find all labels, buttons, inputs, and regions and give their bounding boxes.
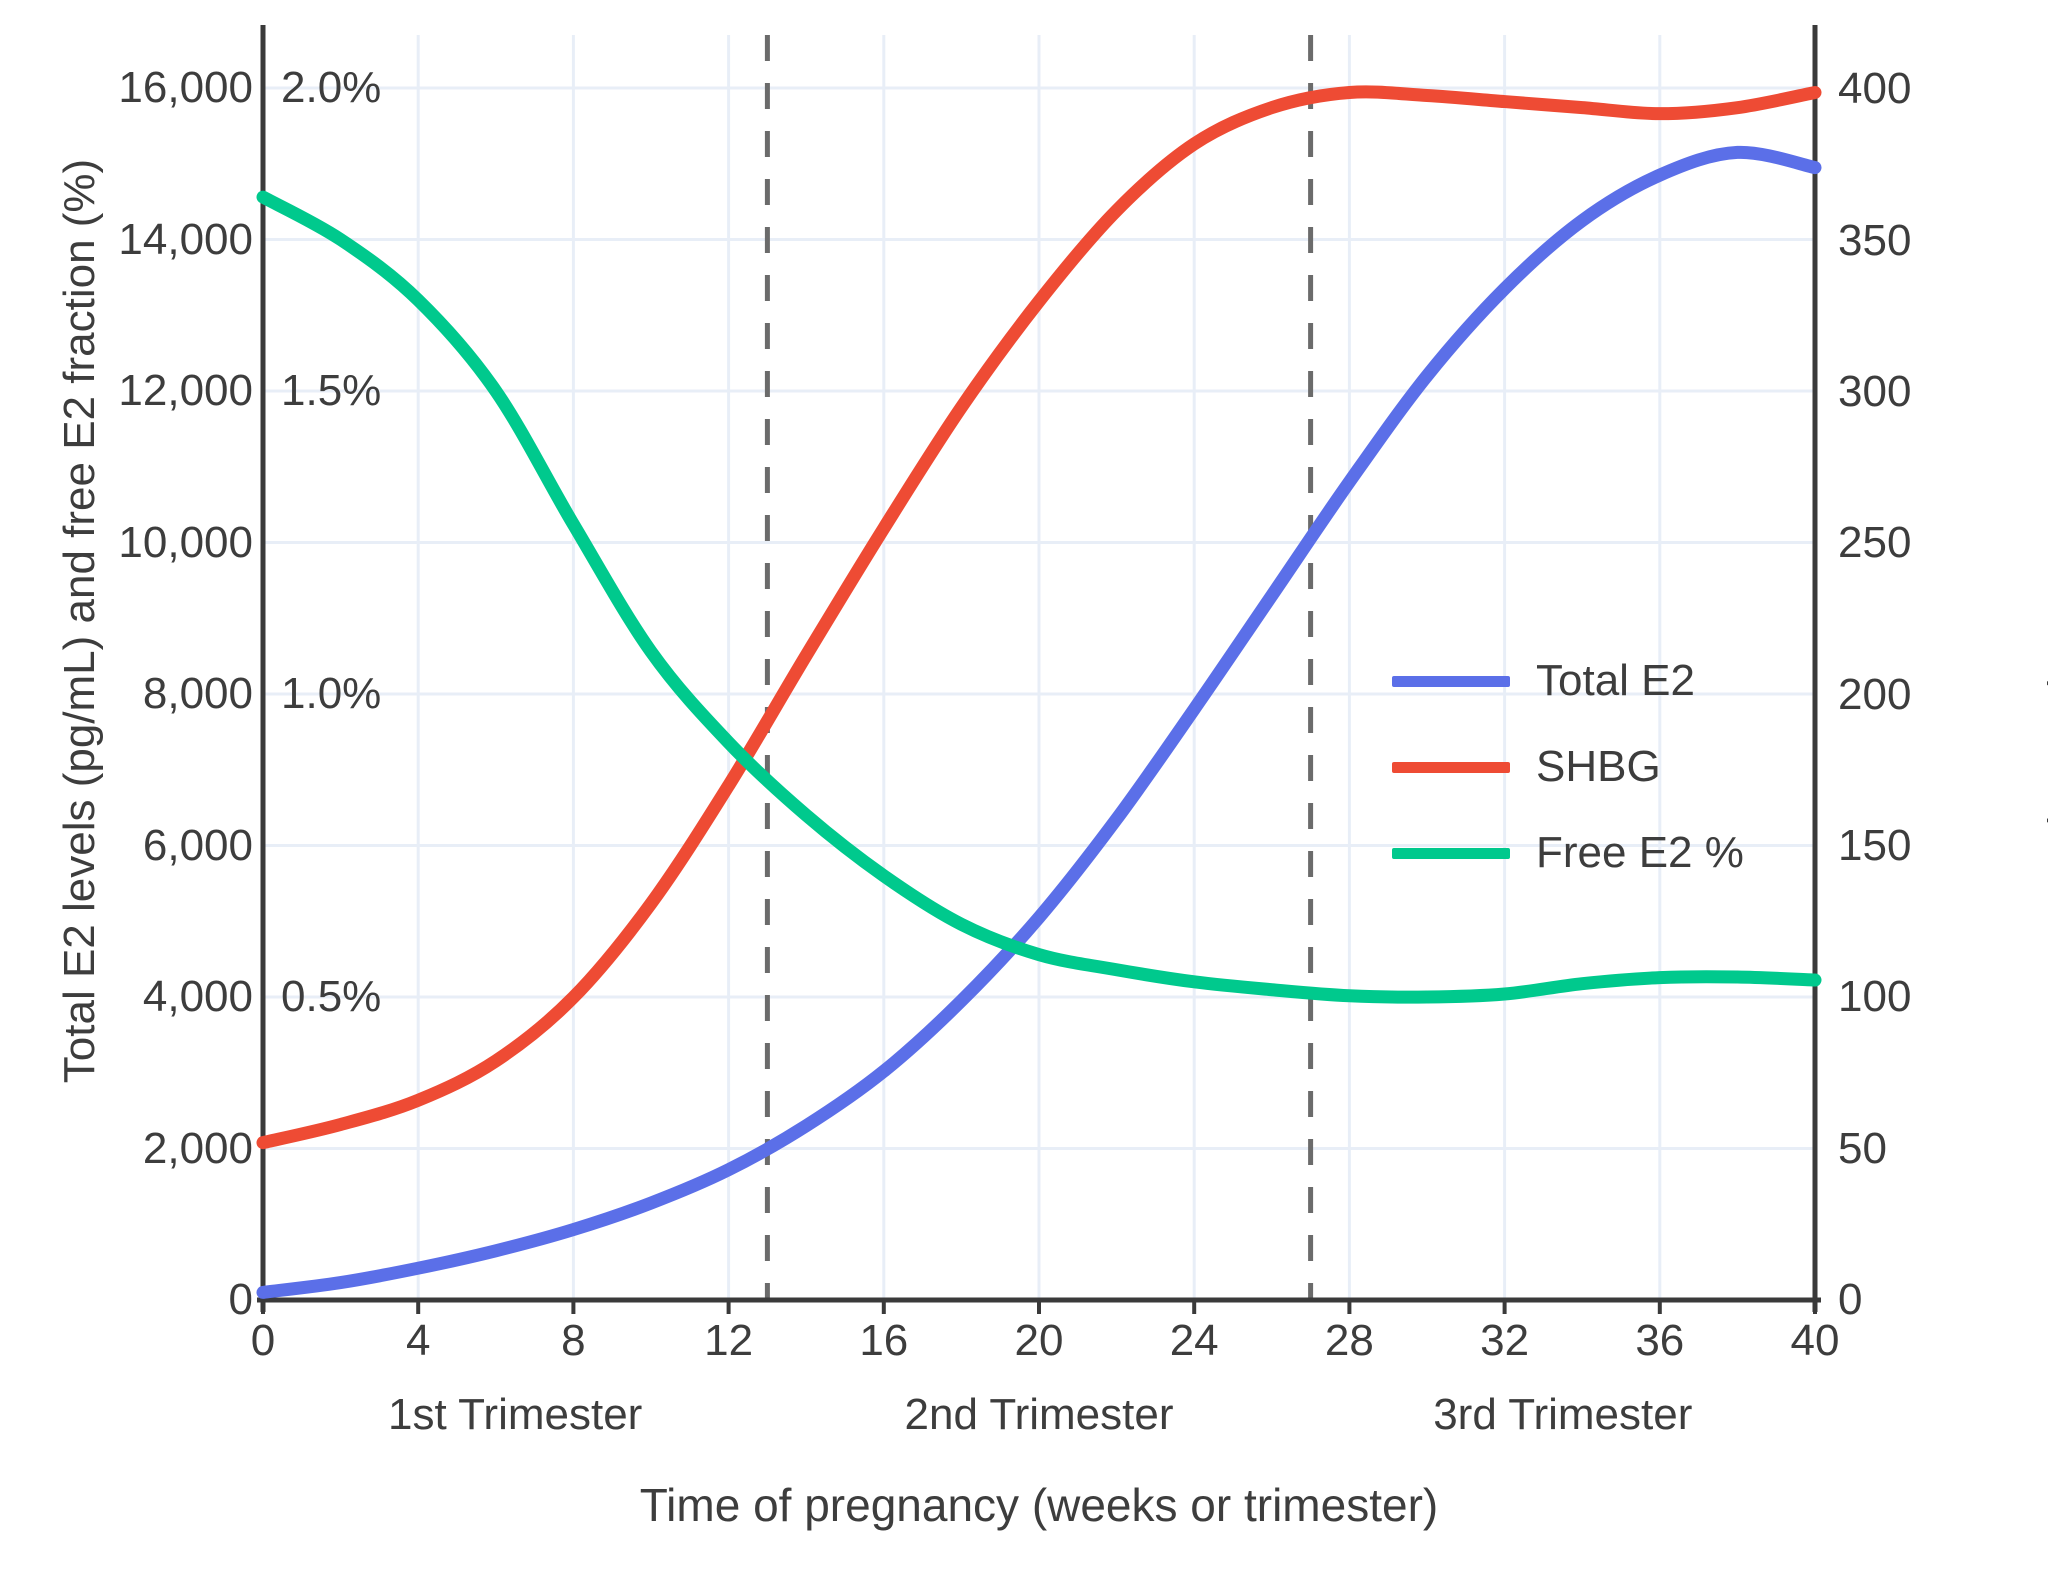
- legend-item-label: Total E2: [1536, 656, 1695, 706]
- y-axis-right-tick-label: 100: [1838, 972, 1911, 1022]
- trimester-label: 1st Trimester: [388, 1390, 642, 1440]
- x-axis-tick-label: 40: [1791, 1316, 1840, 1366]
- free-e2-percent-label: 0.5%: [281, 972, 381, 1022]
- y-axis-right-tick-label: 150: [1838, 821, 1911, 871]
- trimester-label: 2nd Trimester: [905, 1390, 1174, 1440]
- x-axis-tick-label: 4: [406, 1316, 430, 1366]
- legend-item[interactable]: Total E2: [1392, 656, 1744, 706]
- y-axis-left-tick-label: 0: [229, 1275, 253, 1325]
- free-e2-percent-label: 1.0%: [281, 669, 381, 719]
- y-axis-right-tick-label: 50: [1838, 1124, 1887, 1174]
- x-axis-tick-label: 20: [1015, 1316, 1064, 1366]
- legend-color-swatch: [1392, 676, 1510, 687]
- y-axis-left-tick-label: 16,000: [118, 63, 253, 113]
- legend: Total E2SHBGFree E2 %: [1392, 656, 1744, 878]
- legend-item[interactable]: SHBG: [1392, 742, 1744, 792]
- y-axis-right-tick-label: 300: [1838, 367, 1911, 417]
- x-axis-tick-label: 0: [251, 1316, 275, 1366]
- x-axis-tick-label: 24: [1170, 1316, 1219, 1366]
- x-axis-tick-label: 28: [1325, 1316, 1374, 1366]
- y-axis-left-title: Total E2 levels (pg/mL) and free E2 frac…: [55, 0, 105, 1261]
- x-axis-tick-label: 12: [704, 1316, 753, 1366]
- legend-item-label: Free E2 %: [1536, 828, 1744, 878]
- x-axis-tick-label: 8: [561, 1316, 585, 1366]
- trimester-label: 3rd Trimester: [1433, 1390, 1692, 1440]
- y-axis-right-tick-label: 0: [1838, 1275, 1862, 1325]
- y-axis-left-tick-label: 12,000: [118, 366, 253, 416]
- x-axis-tick-label: 16: [859, 1316, 908, 1366]
- x-axis-title: Time of pregnancy (weeks or trimester): [263, 1478, 1815, 1532]
- legend-item-label: SHBG: [1536, 742, 1661, 792]
- y-axis-right-tick-label: 400: [1838, 64, 1911, 114]
- legend-item[interactable]: Free E2 %: [1392, 828, 1744, 878]
- y-axis-left-tick-label: 10,000: [118, 518, 253, 568]
- legend-color-swatch: [1392, 762, 1510, 773]
- y-axis-left-tick-label: 6,000: [143, 821, 253, 871]
- free-e2-percent-label: 1.5%: [281, 366, 381, 416]
- y-axis-left-tick-label: 8,000: [143, 669, 253, 719]
- legend-color-swatch: [1392, 848, 1510, 859]
- chart-figure: Total E2 levels (pg/mL) and free E2 frac…: [0, 0, 2048, 1582]
- y-axis-left-tick-label: 2,000: [143, 1124, 253, 1174]
- free-e2-percent-label: 2.0%: [281, 63, 381, 113]
- y-axis-right-tick-label: 250: [1838, 518, 1911, 568]
- y-axis-left-tick-label: 14,000: [118, 215, 253, 265]
- y-axis-right-tick-label: 200: [1838, 670, 1911, 720]
- y-axis-left-tick-label: 4,000: [143, 972, 253, 1022]
- x-axis-tick-label: 32: [1480, 1316, 1529, 1366]
- y-axis-right-tick-label: 350: [1838, 216, 1911, 266]
- x-axis-tick-label: 36: [1635, 1316, 1684, 1366]
